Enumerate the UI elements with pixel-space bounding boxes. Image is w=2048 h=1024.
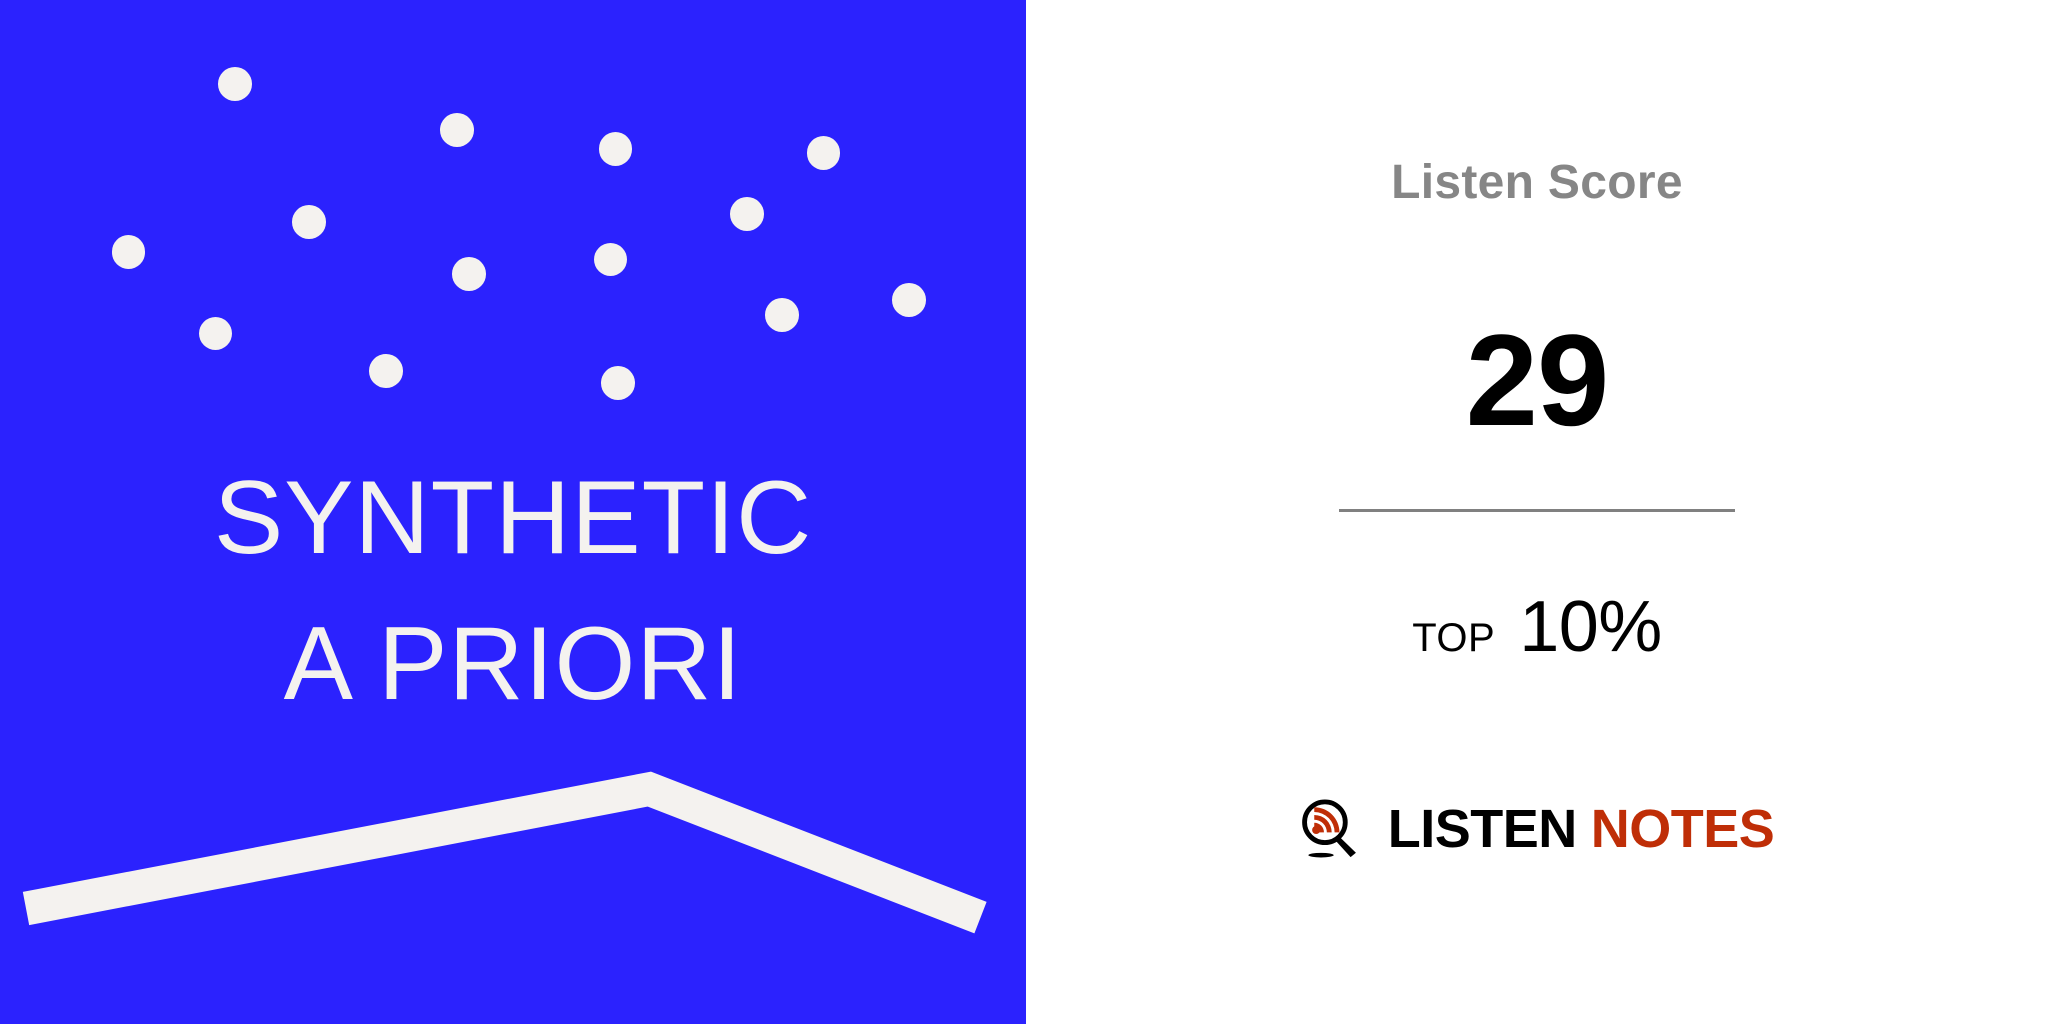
listen-score-card: SYNTHETIC A PRIORI Listen Score 29 TOP 1… — [0, 0, 2048, 1024]
podcast-title: SYNTHETIC A PRIORI — [0, 466, 1026, 716]
confetti-dot — [292, 205, 326, 239]
listen-notes-logo[interactable]: LISTENNOTES — [1300, 798, 1775, 860]
rank-row: TOP 10% — [1026, 586, 2048, 668]
confetti-dot — [730, 197, 764, 231]
confetti-dot — [601, 366, 635, 400]
magnifier-rss-icon — [1300, 798, 1362, 860]
confetti-dot — [218, 67, 252, 101]
wordmark-notes: NOTES — [1591, 799, 1775, 859]
podcast-title-line-2: A PRIORI — [0, 612, 1026, 716]
confetti-dot — [440, 113, 474, 147]
listen-score-value: 29 — [1026, 315, 2048, 445]
confetti-dot — [765, 298, 799, 332]
confetti-dot — [112, 235, 146, 269]
listen-score-panel: Listen Score 29 TOP 10% LISTENNO — [1026, 0, 2048, 1024]
confetti-dot — [594, 243, 628, 277]
score-divider — [1339, 509, 1735, 512]
confetti-dot — [199, 317, 233, 351]
podcast-title-line-1: SYNTHETIC — [0, 466, 1026, 570]
wordmark-listen: LISTEN — [1388, 799, 1577, 859]
listen-notes-wordmark: LISTENNOTES — [1388, 802, 1775, 856]
confetti-dot — [807, 136, 841, 170]
confetti-dot — [892, 283, 926, 317]
rank-prefix-label: TOP — [1412, 616, 1495, 661]
listen-score-label: Listen Score — [1026, 155, 2048, 210]
podcast-cover-art: SYNTHETIC A PRIORI — [0, 0, 1026, 1024]
confetti-dot — [599, 132, 633, 166]
rank-percentile-value: 10% — [1519, 586, 1662, 668]
confetti-dot — [369, 354, 403, 388]
confetti-dot — [452, 257, 486, 291]
